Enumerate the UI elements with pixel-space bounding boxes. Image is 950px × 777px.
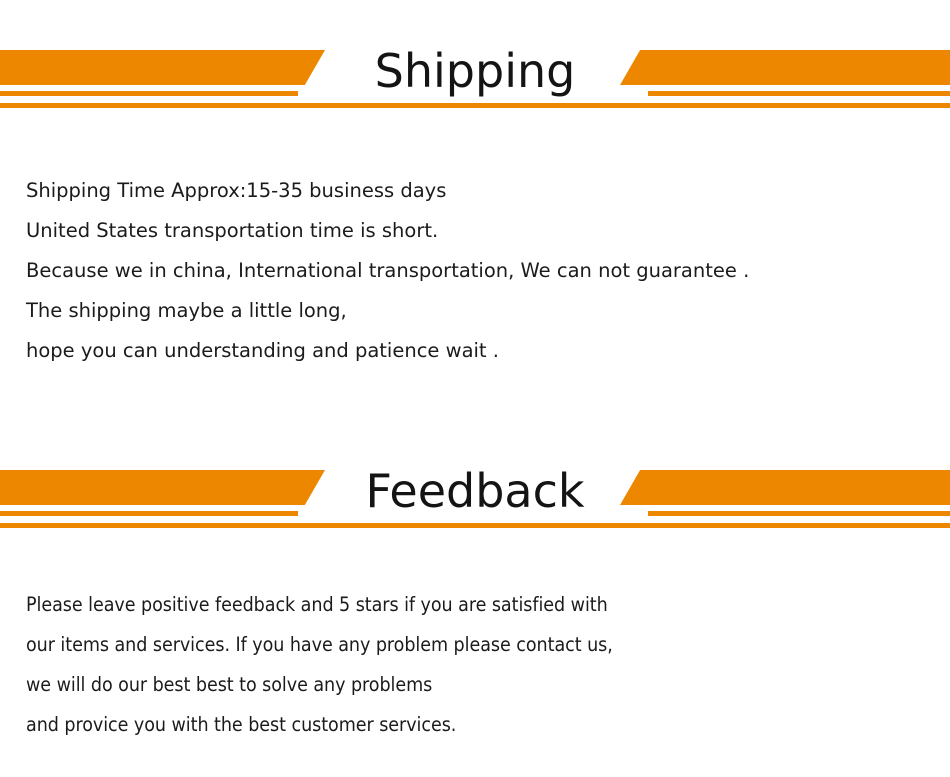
shipping-section: Shipping Shipping Time Approx:15-35 busi…: [0, 42, 950, 114]
shipping-line-4: The shipping maybe a little long,: [26, 291, 749, 331]
feedback-line-3: we will do our best best to solve any pr…: [26, 665, 613, 705]
feedback-body: Please leave positive feedback and 5 sta…: [26, 585, 613, 745]
feedback-line-1: Please leave positive feedback and 5 sta…: [26, 585, 613, 625]
shipping-line-2: United States transportation time is sho…: [26, 211, 749, 251]
banner-line-bottom-icon: [0, 523, 950, 528]
shipping-heading: Shipping: [0, 42, 950, 102]
shipping-line-3: Because we in china, International trans…: [26, 251, 749, 291]
feedback-heading: Feedback: [0, 462, 950, 522]
product-description-page: Shipping Shipping Time Approx:15-35 busi…: [0, 0, 950, 777]
feedback-heading-text: Feedback: [339, 462, 610, 520]
shipping-line-5: hope you can understanding and patience …: [26, 331, 749, 371]
feedback-line-2: our items and services. If you have any …: [26, 625, 613, 665]
feedback-banner: Feedback: [0, 462, 950, 534]
shipping-banner: Shipping: [0, 42, 950, 114]
banner-line-bottom-icon: [0, 103, 950, 108]
shipping-line-1: Shipping Time Approx:15-35 business days: [26, 171, 749, 211]
feedback-section: Feedback Please leave positive feedback …: [0, 462, 950, 534]
feedback-line-4: and provice you with the best customer s…: [26, 705, 613, 745]
shipping-body: Shipping Time Approx:15-35 business days…: [26, 171, 749, 371]
shipping-heading-text: Shipping: [349, 42, 602, 100]
